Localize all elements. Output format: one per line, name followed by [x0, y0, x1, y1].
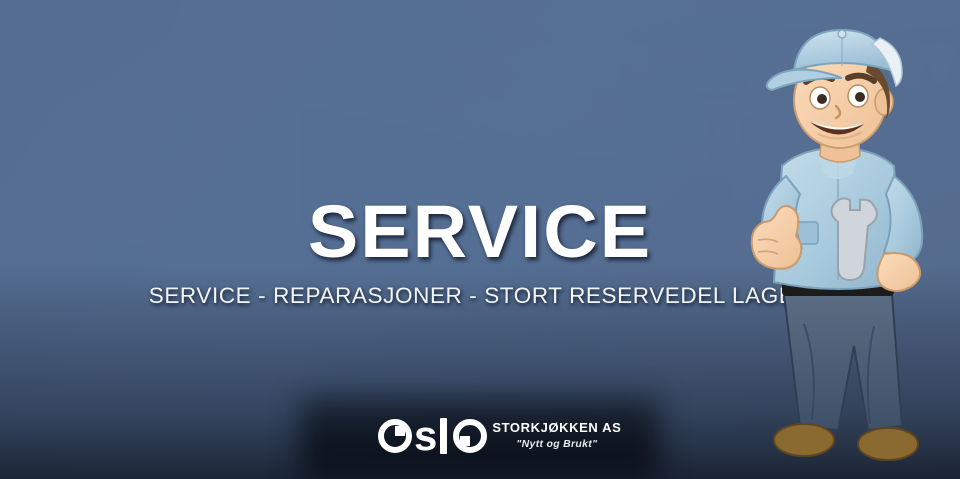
- service-technician-mascot: [742, 26, 960, 479]
- logo-o-second-icon: [453, 419, 487, 453]
- logo-text-block: STORKJØKKEN AS "Nytt og Brukt": [492, 418, 621, 450]
- logo-mark-icon: s: [378, 418, 487, 454]
- mascot-thumbs-up-arm: [752, 176, 802, 269]
- service-banner: SERVICE SERVICE - REPARASJONER - STORT R…: [0, 0, 960, 479]
- mascot-legs: [784, 294, 902, 430]
- logo-letter-s: s: [414, 419, 437, 453]
- company-logo[interactable]: s STORKJØKKEN AS "Nytt og Brukt": [378, 418, 621, 454]
- logo-o-first-icon: [378, 419, 412, 453]
- logo-letter-l-icon: [440, 418, 447, 454]
- logo-tagline: "Nytt og Brukt": [492, 438, 621, 450]
- logo-company-suffix: STORKJØKKEN AS: [492, 421, 621, 435]
- mascot-shoes: [774, 424, 918, 460]
